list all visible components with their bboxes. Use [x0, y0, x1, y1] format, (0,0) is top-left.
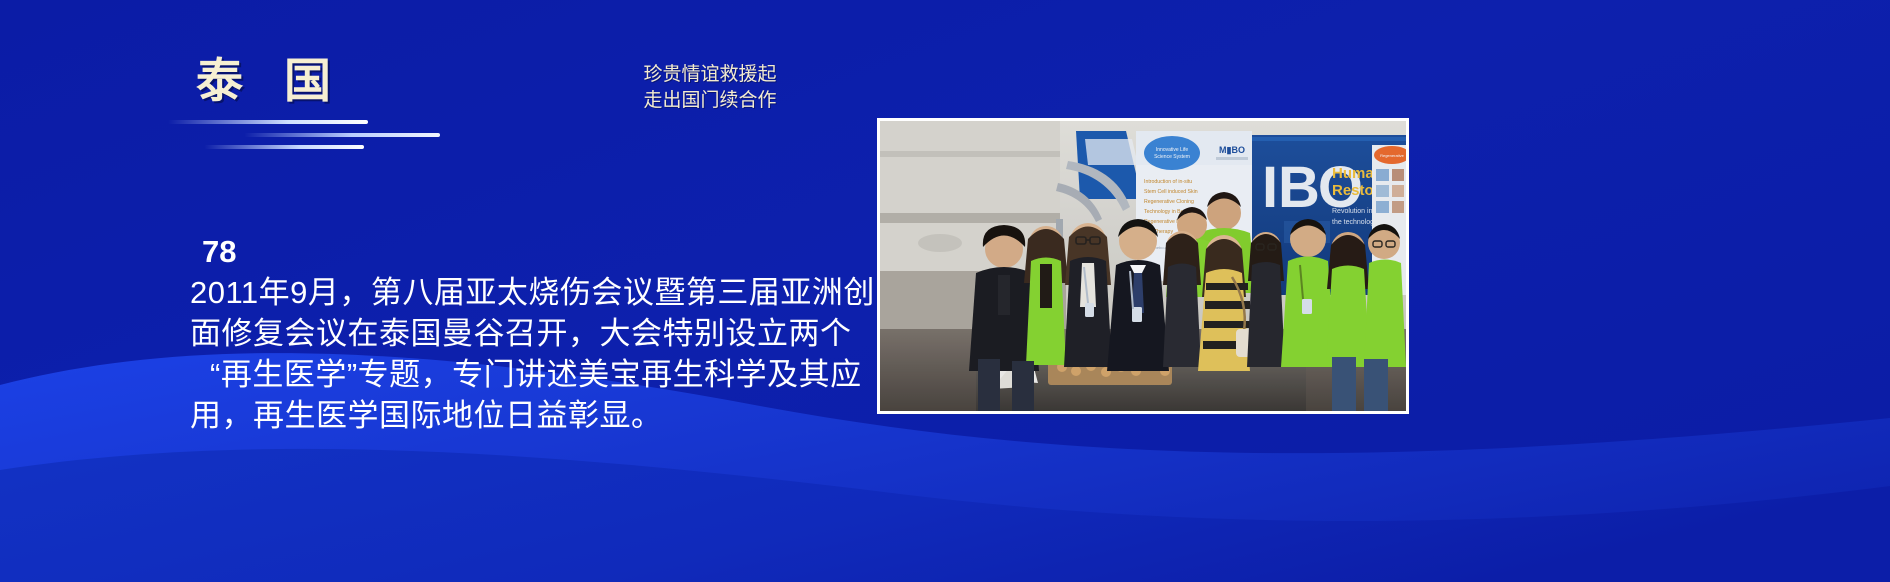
- title-underline-3: [204, 145, 364, 149]
- conference-group-photo: Innovative Life Science System M▮BO Intr…: [880, 121, 1406, 411]
- slide-canvas: 泰 国 珍贵情谊救援起 走出国门续合作 78 2011年9月，第八届亚太烧伤会议…: [0, 0, 1890, 582]
- body-line-1: 2011年9月，第八届亚太烧伤会议暨第三届亚洲创: [190, 273, 890, 314]
- photo-frame: Innovative Life Science System M▮BO Intr…: [877, 118, 1409, 414]
- title-underline-1: [168, 120, 368, 124]
- body-line-2: 面修复会议在泰国曼谷召开，大会特别设立两个: [190, 314, 890, 355]
- item-number: 78: [202, 236, 890, 267]
- body-line-4: 用，再生医学国际地位日益彰显。: [190, 396, 890, 437]
- body-block: 78 2011年9月，第八届亚太烧伤会议暨第三届亚洲创 面修复会议在泰国曼谷召开…: [190, 236, 890, 437]
- body-line-3: “再生医学”专题，专门讲述美宝再生科学及其应: [190, 355, 890, 396]
- title-block: 泰 国: [196, 57, 526, 104]
- subtitle-block: 珍贵情谊救援起 走出国门续合作: [590, 62, 830, 114]
- body-paragraph: 2011年9月，第八届亚太烧伤会议暨第三届亚洲创 面修复会议在泰国曼谷召开，大会…: [190, 273, 890, 437]
- title-underline-2: [244, 133, 440, 137]
- page-title: 泰 国: [196, 57, 526, 104]
- subtitle-line-2: 走出国门续合作: [590, 88, 830, 114]
- subtitle-line-1: 珍贵情谊救援起: [590, 62, 830, 88]
